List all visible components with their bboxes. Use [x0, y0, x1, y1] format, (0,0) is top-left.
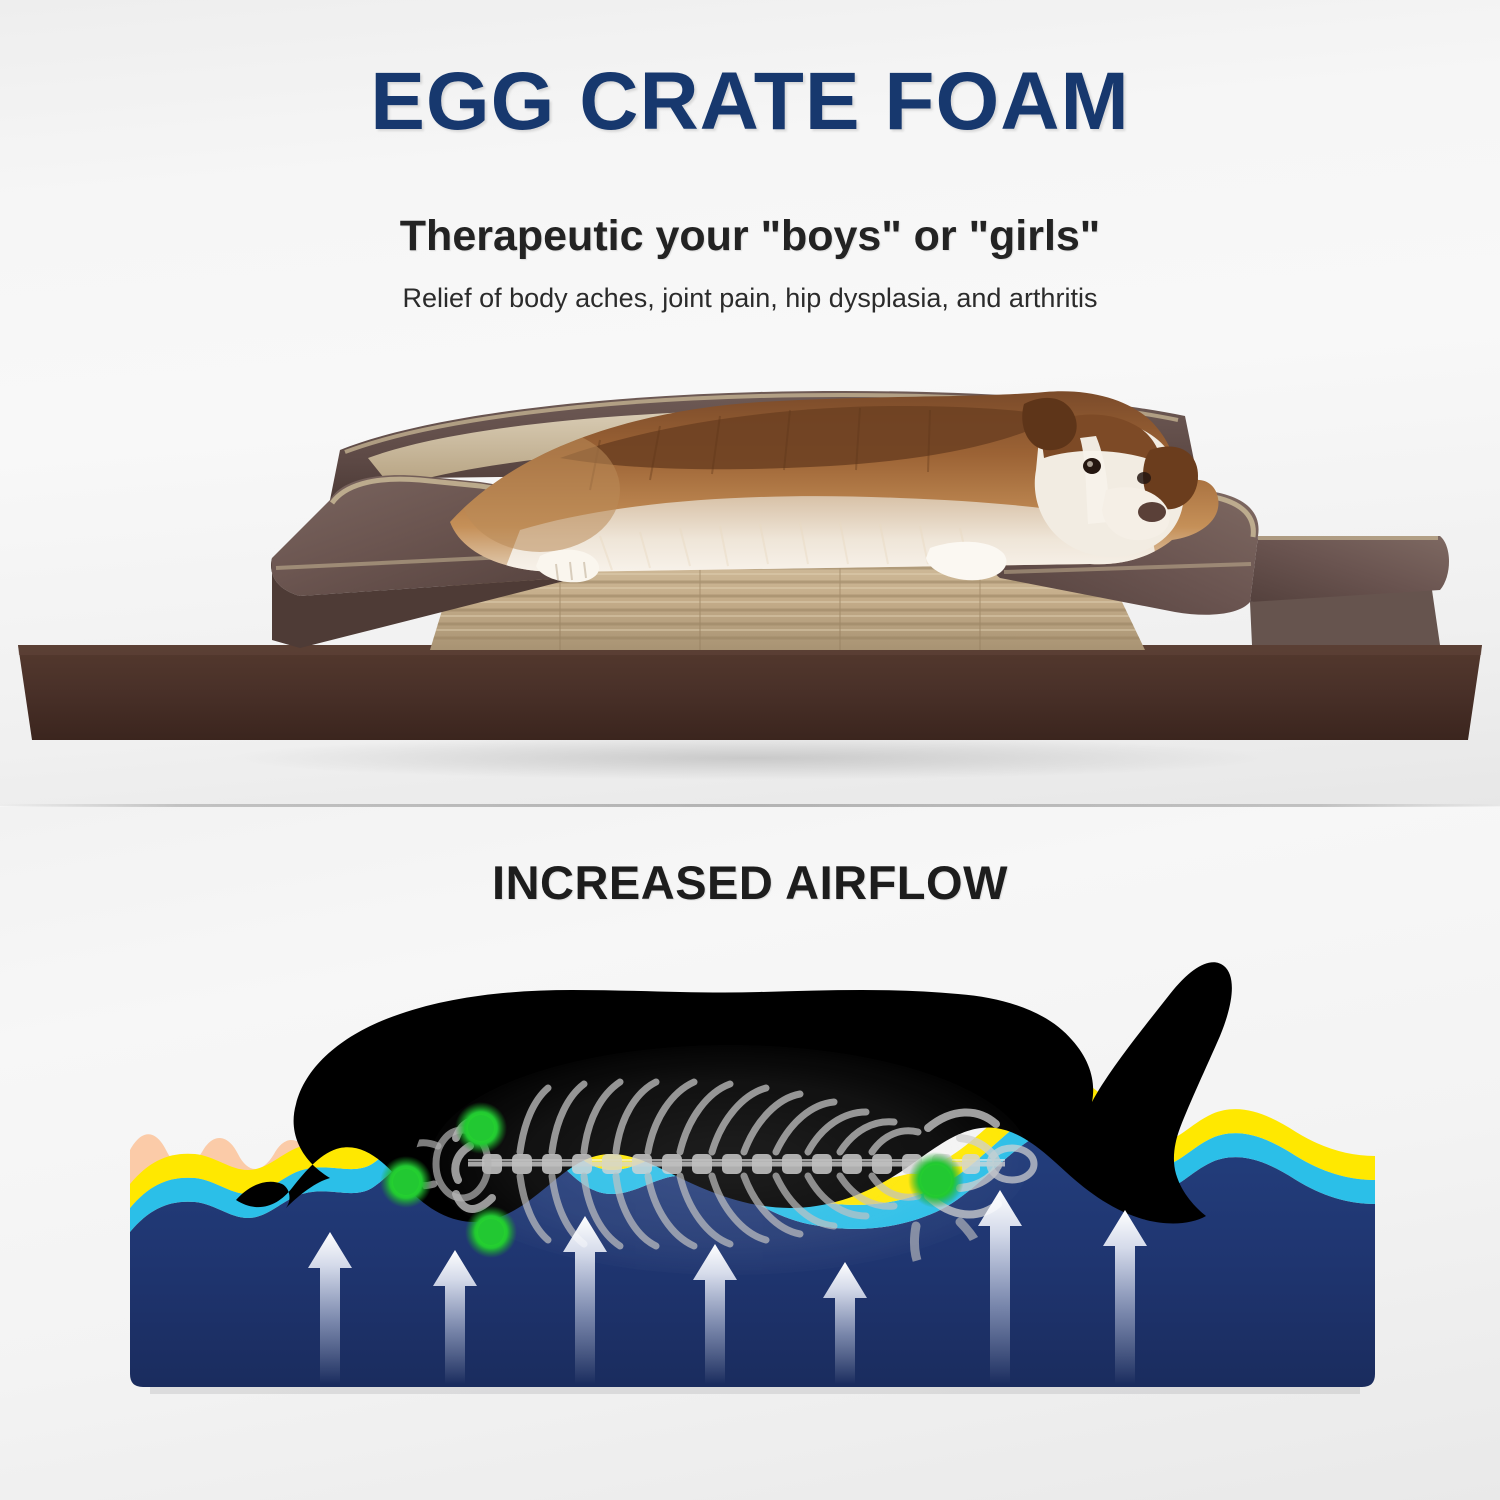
page-title: EGG CRATE FOAM [0, 55, 1500, 149]
product-photo-dog-bed [0, 340, 1500, 780]
mattress-drop-shadow [150, 1387, 1360, 1394]
increased-airflow-panel: INCREASED AIRFLOW [0, 807, 1500, 1500]
dog-nose [1138, 502, 1166, 522]
infographic-page: EGG CRATE FOAM Therapeutic your "boys" o… [0, 0, 1500, 1500]
airflow-title: INCREASED AIRFLOW [0, 855, 1500, 910]
dog-eye-right [1137, 472, 1151, 484]
egg-crate-foam-panel: EGG CRATE FOAM Therapeutic your "boys" o… [0, 0, 1500, 806]
relief-description: Relief of body aches, joint pain, hip dy… [0, 283, 1500, 314]
floor-shadow [230, 736, 1270, 780]
airflow-cross-section-diagram [0, 932, 1500, 1452]
bed-base [18, 645, 1482, 740]
therapeutic-subtitle: Therapeutic your "boys" or "girls" [0, 212, 1500, 261]
dog-eye-left-glint [1087, 461, 1093, 467]
